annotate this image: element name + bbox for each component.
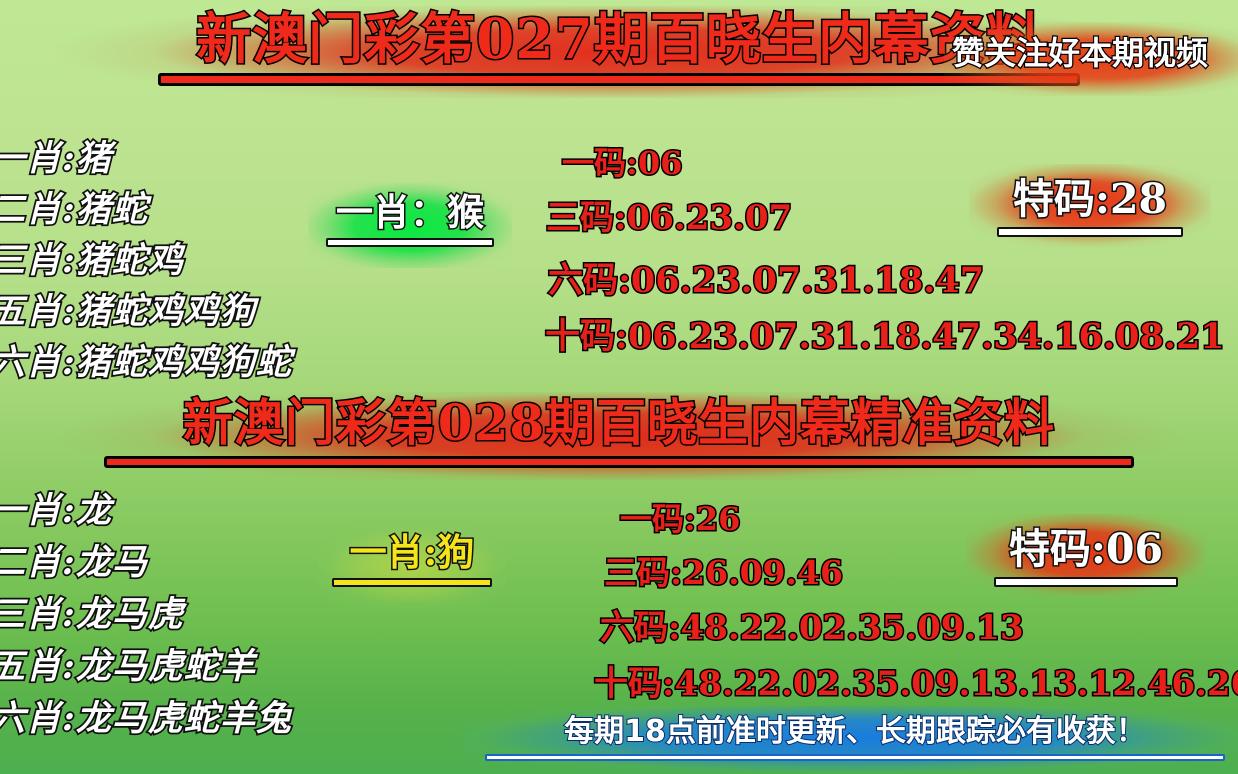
special-code-028-underline xyxy=(994,577,1178,587)
zodiac-row: 五肖:龙马虎蛇羊 xyxy=(0,641,292,693)
title-028-underline xyxy=(104,456,1134,468)
highlight-chip-027: 一肖：猴 xyxy=(312,188,508,262)
highlight-chip-028-underline xyxy=(332,578,492,587)
title-027-text: 新澳门彩第027期百晓生内幕资料 xyxy=(196,6,1042,72)
footer-underline xyxy=(485,754,1225,761)
zodiac-row: 六肖:龙马虎蛇羊兔 xyxy=(0,693,292,745)
special-code-027: 特码:28 xyxy=(985,174,1195,237)
zodiac-row: 一肖:龙 xyxy=(0,485,292,537)
zodiac-row: 五肖:猪蛇鸡鸡狗 xyxy=(0,286,292,337)
special-code-028: 特码:06 xyxy=(982,524,1190,587)
code-line-027-three: 三码:06.23.07 xyxy=(546,190,792,239)
code-line-027-ten: 十码:06.23.07.31.18.47.34.16.08.21 xyxy=(545,308,1225,359)
zodiac-row: 二肖:猪蛇 xyxy=(0,184,292,235)
special-code-028-text: 特码:06 xyxy=(1009,524,1163,574)
zodiac-list-028: 一肖:龙 二肖:龙马 三肖:龙马虎 五肖:龙马虎蛇羊 六肖:龙马虎蛇羊兔 xyxy=(0,485,292,745)
promo-banner: 赞关注好本期视频 xyxy=(944,22,1238,96)
promo-text: 赞关注好本期视频 xyxy=(952,32,1208,74)
title-027-underline xyxy=(158,73,1080,86)
zodiac-list-027: 一肖:猪 二肖:猪蛇 三肖:猪蛇鸡 五肖:猪蛇鸡鸡狗 六肖:猪蛇鸡鸡狗蛇 xyxy=(0,133,292,388)
zodiac-row: 一肖:猪 xyxy=(0,133,292,184)
title-028-text: 新澳门彩第028期百晓生内幕精准资料 xyxy=(183,392,1055,454)
title-banner-028: 新澳门彩第028期百晓生内幕精准资料 xyxy=(0,392,1238,480)
highlight-chip-027-text: 一肖：猴 xyxy=(336,188,484,236)
footer-banner: 每期18点前准时更新、长期跟踪必有收获！ xyxy=(472,710,1238,772)
code-line-028-six: 六码:48.22.02.35.09.13 xyxy=(600,600,1024,649)
code-line-028-ten: 十码:48.22.02.35.09.13.13.12.46.26.03 xyxy=(594,656,1238,705)
special-code-027-underline xyxy=(997,227,1183,237)
special-code-027-text: 特码:28 xyxy=(1013,174,1167,224)
zodiac-row: 三肖:猪蛇鸡 xyxy=(0,235,292,286)
code-line-028-three: 三码:26.09.46 xyxy=(604,546,843,594)
zodiac-row: 三肖:龙马虎 xyxy=(0,589,292,641)
highlight-chip-028: 一肖:狗 xyxy=(322,528,502,602)
zodiac-row: 六肖:猪蛇鸡鸡狗蛇 xyxy=(0,337,292,388)
code-line-028-one: 一码:26 xyxy=(620,494,740,540)
zodiac-row: 二肖:龙马 xyxy=(0,537,292,589)
code-line-027-six: 六码:06.23.07.31.18.47 xyxy=(548,252,984,303)
code-line-027-one: 一码:06 xyxy=(562,138,682,184)
footer-text: 每期18点前准时更新、长期跟踪必有收获！ xyxy=(564,710,1146,754)
poster-canvas: 新澳门彩第027期百晓生内幕资料 赞关注好本期视频 一肖:猪 二肖:猪蛇 三肖:… xyxy=(0,0,1238,774)
highlight-chip-028-text: 一肖:狗 xyxy=(350,528,475,576)
highlight-chip-027-underline xyxy=(326,238,494,247)
